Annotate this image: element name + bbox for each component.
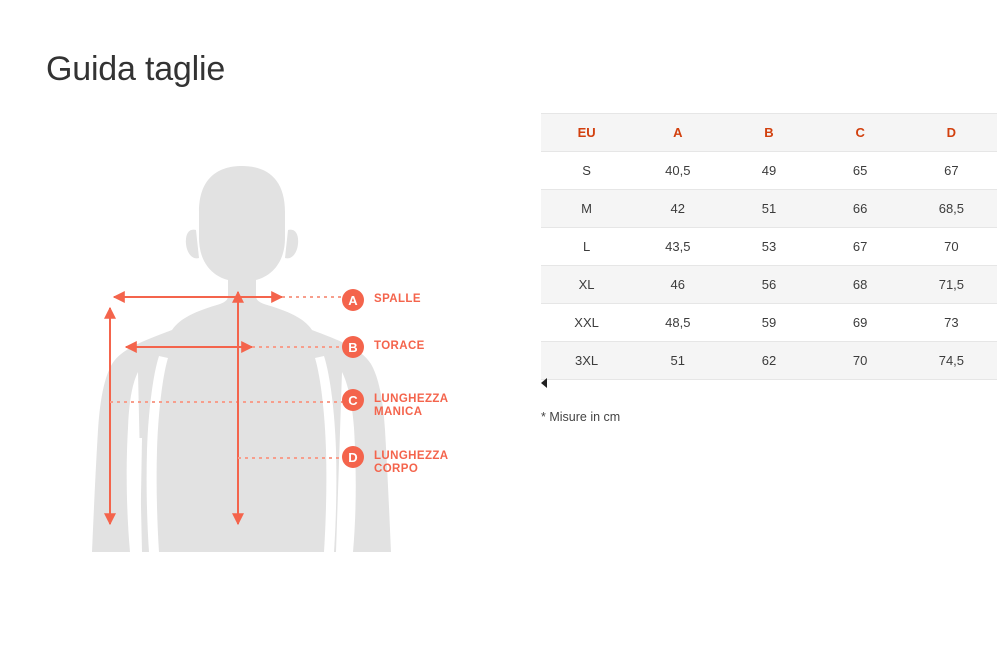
cell-a: 51 — [632, 342, 723, 380]
legend-badge-b: B — [342, 336, 364, 358]
cell-a: 48,5 — [632, 304, 723, 342]
table-row: XL 46 56 68 71,5 — [541, 266, 997, 304]
cell-a: 42 — [632, 190, 723, 228]
cell-eu: XXL — [541, 304, 632, 342]
cell-c: 70 — [815, 342, 906, 380]
cell-c: 68 — [815, 266, 906, 304]
cell-eu: XL — [541, 266, 632, 304]
cell-d: 68,5 — [906, 190, 997, 228]
cell-eu: M — [541, 190, 632, 228]
cell-a: 43,5 — [632, 228, 723, 266]
measurement-diagram: A SPALLE B TORACE C LUNGHEZZA MANICA D L… — [46, 150, 516, 570]
table-row: S 40,5 49 65 67 — [541, 152, 997, 190]
cell-d: 71,5 — [906, 266, 997, 304]
cell-d: 74,5 — [906, 342, 997, 380]
legend-label-shoulders: SPALLE — [374, 289, 421, 306]
cell-eu: L — [541, 228, 632, 266]
cell-c: 67 — [815, 228, 906, 266]
legend-label-sleeve-length: LUNGHEZZA MANICA — [374, 389, 449, 419]
cell-b: 53 — [723, 228, 814, 266]
page-title: Guida taglie — [46, 50, 225, 89]
table-row: M 42 51 66 68,5 — [541, 190, 997, 228]
legend-item-shoulders: A SPALLE — [342, 289, 421, 311]
cell-a: 46 — [632, 266, 723, 304]
table-row: 3XL 51 62 70 74,5 — [541, 342, 997, 380]
cell-b: 49 — [723, 152, 814, 190]
cell-c: 66 — [815, 190, 906, 228]
legend-label-chest: TORACE — [374, 336, 425, 353]
legend-label-body-length: LUNGHEZZA CORPO — [374, 446, 449, 476]
size-table-header: EU A B C D — [541, 114, 997, 152]
size-table-container[interactable]: EU A B C D S 40,5 49 65 67 M 42 51 66 68… — [541, 113, 997, 380]
size-table-body: S 40,5 49 65 67 M 42 51 66 68,5 L 43,5 5… — [541, 152, 997, 380]
cell-b: 59 — [723, 304, 814, 342]
cell-a: 40,5 — [632, 152, 723, 190]
cell-d: 67 — [906, 152, 997, 190]
triangle-left-icon — [541, 378, 547, 388]
table-header-row: EU A B C D — [541, 114, 997, 152]
cell-b: 56 — [723, 266, 814, 304]
table-footnote: * Misure in cm — [541, 410, 620, 424]
legend-badge-d: D — [342, 446, 364, 468]
body-silhouette-diagram — [46, 150, 516, 570]
legend-item-sleeve-length: C LUNGHEZZA MANICA — [342, 389, 449, 419]
legend-item-chest: B TORACE — [342, 336, 425, 358]
cell-eu: S — [541, 152, 632, 190]
column-header-c: C — [815, 114, 906, 152]
cell-d: 73 — [906, 304, 997, 342]
column-header-eu: EU — [541, 114, 632, 152]
cell-eu: 3XL — [541, 342, 632, 380]
cell-d: 70 — [906, 228, 997, 266]
cell-c: 69 — [815, 304, 906, 342]
cell-c: 65 — [815, 152, 906, 190]
legend-badge-a: A — [342, 289, 364, 311]
column-header-d: D — [906, 114, 997, 152]
cell-b: 51 — [723, 190, 814, 228]
column-header-b: B — [723, 114, 814, 152]
body-silhouette-shape — [92, 166, 391, 552]
column-header-a: A — [632, 114, 723, 152]
size-table: EU A B C D S 40,5 49 65 67 M 42 51 66 68… — [541, 113, 997, 380]
cell-b: 62 — [723, 342, 814, 380]
table-row: L 43,5 53 67 70 — [541, 228, 997, 266]
legend-item-body-length: D LUNGHEZZA CORPO — [342, 446, 449, 476]
table-row: XXL 48,5 59 69 73 — [541, 304, 997, 342]
legend-badge-c: C — [342, 389, 364, 411]
scroll-left-arrow-icon[interactable] — [541, 377, 555, 389]
